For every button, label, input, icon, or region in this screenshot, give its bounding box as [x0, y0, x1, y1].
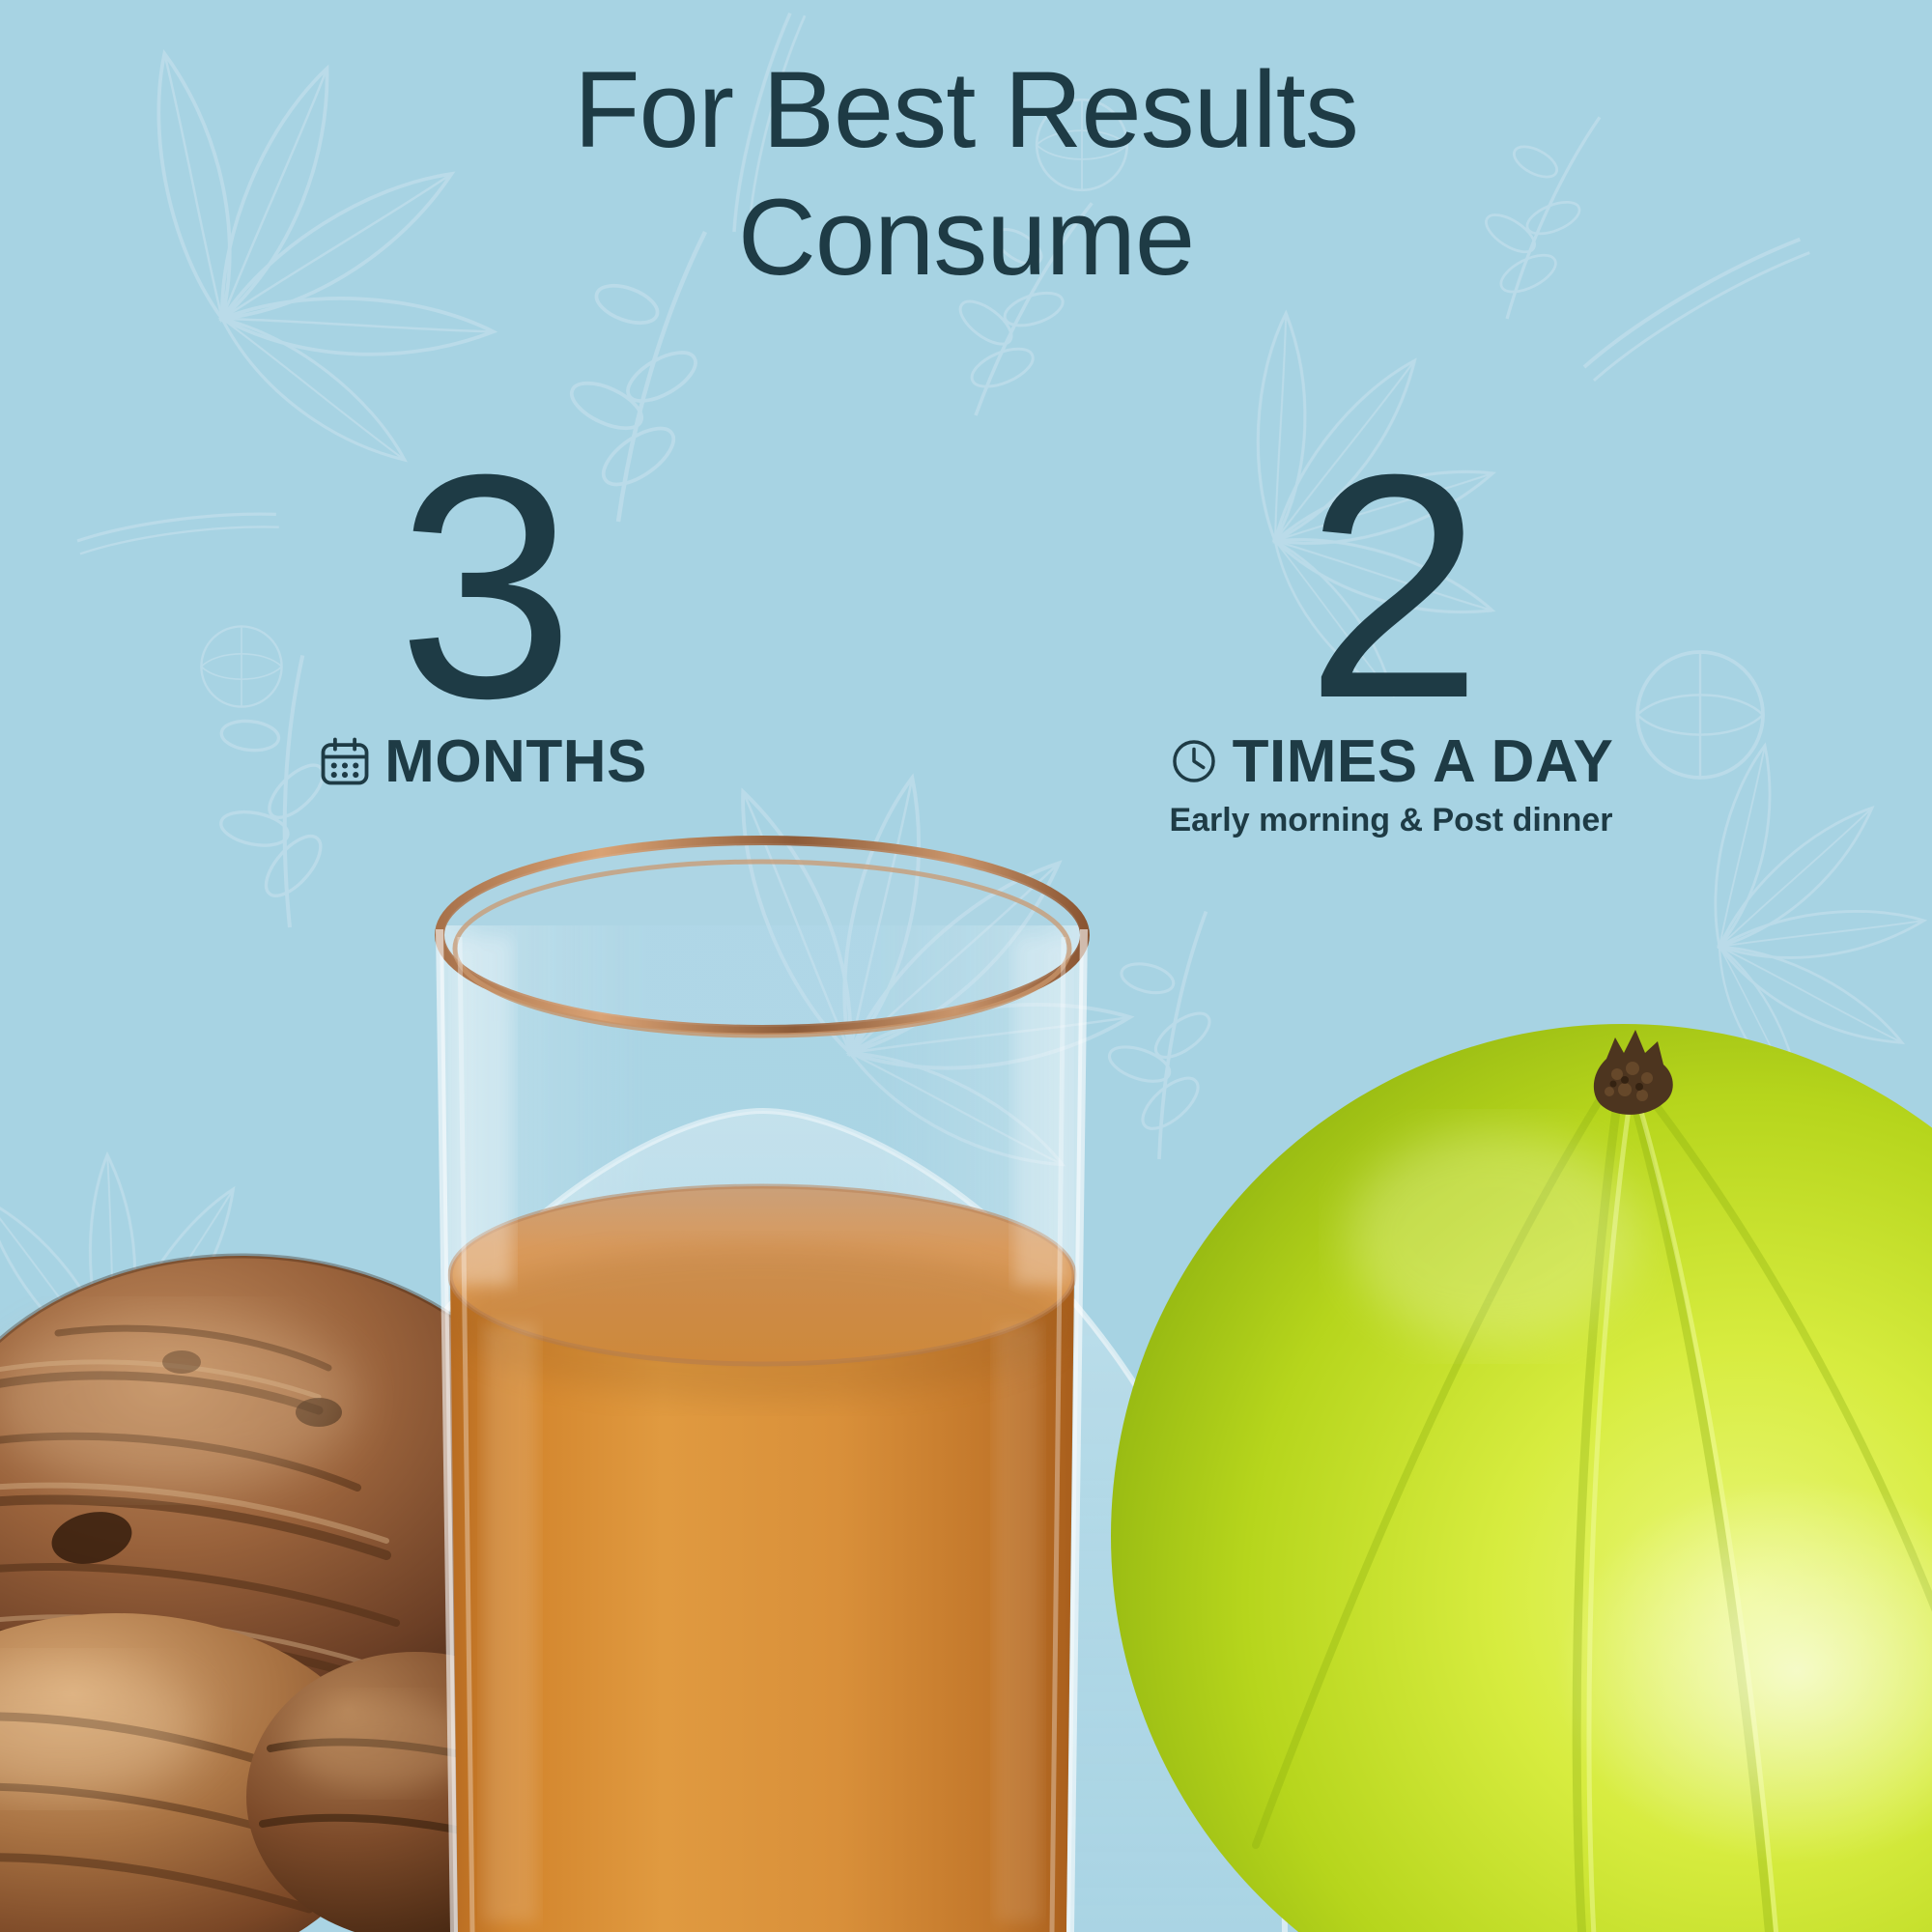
stats-row: 3 MONTHS [0, 440, 1932, 884]
stat-frequency-unit-row: TIMES A DAY [1111, 727, 1671, 796]
page-title: For Best Results Consume [0, 46, 1932, 301]
juice-glass [440, 840, 1085, 1932]
product-imagery [0, 821, 1932, 1932]
stat-duration-number: 3 [203, 440, 763, 733]
calendar-icon [319, 735, 371, 787]
headline-line-2: Consume [0, 174, 1932, 301]
stat-duration-unit: MONTHS [384, 727, 647, 796]
stat-duration-unit-row: MONTHS [203, 727, 763, 796]
headline-line-1: For Best Results [574, 49, 1358, 170]
poster-canvas: For Best Results Consume 3 [0, 0, 1932, 1932]
stat-frequency-unit: TIMES A DAY [1233, 727, 1614, 796]
amla-fruit [1111, 1024, 1932, 1932]
clock-icon [1169, 736, 1219, 786]
stat-frequency-number: 2 [1111, 440, 1671, 733]
stat-duration: 3 MONTHS [203, 440, 763, 796]
stat-frequency-note: Early morning & Post dinner [1111, 802, 1671, 839]
stat-frequency: 2 TIMES A DAY Early morning & Post dinne… [1111, 440, 1671, 839]
